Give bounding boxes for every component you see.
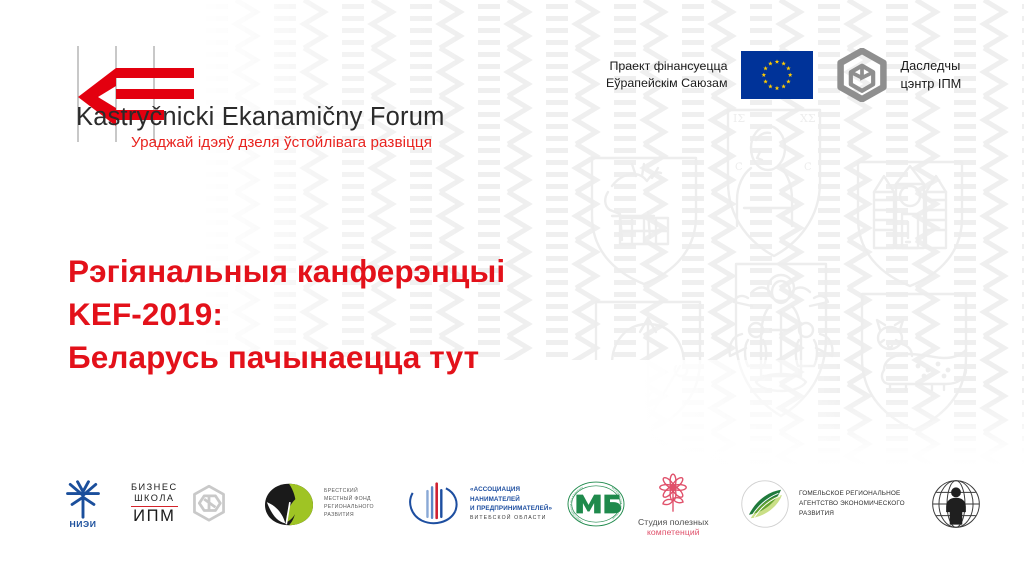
partner-studio: Студия полезных компетенций	[638, 466, 709, 542]
gomel-line-3: РАЗВИТИЯ	[799, 509, 905, 519]
svg-text:С̄: С̄	[735, 162, 743, 173]
main-title-line-1: Рэгіянальныя канферэнцыі	[68, 250, 505, 293]
ipm-hex-cube-icon	[835, 48, 889, 102]
eu-flag	[741, 51, 813, 99]
gomel-line-2: АГЕНТСТВО ЭКОНОМИЧЕСКОГО	[799, 499, 905, 509]
bs-line-2: ШКОЛА	[131, 493, 178, 504]
slide-root: ΙΣ ΧΣ С̄ С̄	[0, 0, 1024, 576]
studio-line-2: компетенций	[638, 528, 709, 537]
main-title: Рэгіянальныя канферэнцыі KEF-2019: Белар…	[68, 250, 505, 378]
main-title-line-3: Беларусь пачынаецца тут	[68, 336, 505, 379]
svg-text:С̄: С̄	[804, 162, 812, 173]
ipm-line-1: Даследчы	[900, 57, 961, 75]
crest-minsk-virgin	[730, 264, 833, 416]
ipm-logo-block: Даследчы цэнтр ІПМ	[835, 48, 961, 102]
mb-monogram-icon: МОГИЛЕВСКОЕ ОБЛАСТНОЕ ОБЩЕСТВЕННОЕ ОБЪЕД…	[560, 476, 632, 532]
kef-tagline: Ураджай ідэяў дзеля ўстойлівага развіцця	[131, 135, 445, 152]
niei-tree-icon	[62, 479, 104, 519]
brest-line-2: МЕСТНЫЙ ФОНД	[324, 496, 374, 504]
funding-block: Праект фінансуецца Еўрапейскім Саюзам Да…	[606, 48, 961, 102]
assoc-sub: ВИТЕБСКОЙ ОБЛАСТИ	[470, 515, 552, 523]
assoc-line-1: «АССОЦИАЦИЯ	[470, 485, 552, 494]
globe-person-icon	[930, 478, 982, 530]
ipm-text: Даследчы цэнтр ІПМ	[900, 57, 961, 92]
ipm-hex-knot-icon	[188, 483, 230, 525]
partner-niei: НИЭИ	[62, 466, 104, 542]
brest-line-4: РАЗВИТИЯ	[324, 512, 374, 520]
main-title-line-2: KEF-2019:	[68, 293, 505, 336]
niei-label: НИЭИ	[69, 519, 96, 529]
partner-logos-row: НИЭИ БИЗНЕС ШКОЛА ИПМ	[0, 466, 1024, 542]
kef-wordmark: Kastryčnicki Ekanamičny Forum Ураджай ід…	[76, 104, 445, 151]
svg-text:ΙΣ: ΙΣ	[733, 112, 745, 125]
vitebsk-swoosh-icon	[405, 480, 461, 528]
partner-business-school-ipm: БИЗНЕС ШКОЛА ИПМ	[131, 466, 230, 542]
crest-mogilev-bow	[596, 302, 700, 432]
bs-acronym: ИПМ	[131, 508, 178, 525]
assoc-line-3: И ПРЕДПРИНИМАТЕЛЕЙ»	[470, 504, 552, 513]
partner-gomel-agency: ГОМЕЛЬСКОЕ РЕГИОНАЛЬНОЕ АГЕНТСТВО ЭКОНОМ…	[740, 466, 905, 542]
assoc-line-2: НАНИМАТЕЛЕЙ	[470, 495, 552, 504]
svg-text:ΧΣ: ΧΣ	[800, 112, 816, 125]
crest-brest-castle	[858, 162, 962, 286]
brest-line-3: РЕГИОНАЛЬНОГО	[324, 504, 374, 512]
kef-title: Kastryčnicki Ekanamičny Forum	[76, 104, 445, 131]
crest-grodno-deer	[592, 158, 696, 284]
funding-line-1: Праект фінансуецца	[606, 58, 727, 75]
funding-line-2: Еўрапейскім Саюзам	[606, 75, 727, 92]
partner-vitebsk-association: «АССОЦИАЦИЯ НАНИМАТЕЛЕЙ И ПРЕДПРИНИМАТЕЛ…	[405, 466, 552, 542]
partner-brest-fund: БРЕСТСКИЙ МЕСТНЫЙ ФОНД РЕГИОНАЛЬНОГО РАЗ…	[262, 466, 374, 542]
gomel-wheat-icon	[740, 479, 790, 529]
gomel-line-1: ГОМЕЛЬСКОЕ РЕГИОНАЛЬНОЕ	[799, 489, 905, 499]
bs-line-1: БИЗНЕС	[131, 482, 178, 493]
ipm-line-2: цэнтр ІПМ	[900, 75, 961, 93]
crest-gomel-lynx	[862, 294, 966, 430]
crest-vitebsk-saviour: ΙΣ ΧΣ С̄ С̄	[728, 110, 820, 256]
funding-text: Праект фінансуецца Еўрапейскім Саюзам	[606, 58, 727, 92]
studio-flower-icon	[649, 471, 697, 513]
partner-globe-person	[930, 466, 982, 542]
partner-mb: МОГИЛЕВСКОЕ ОБЛАСТНОЕ ОБЩЕСТВЕННОЕ ОБЪЕД…	[560, 466, 632, 542]
brest-leaf-icon	[262, 480, 316, 528]
